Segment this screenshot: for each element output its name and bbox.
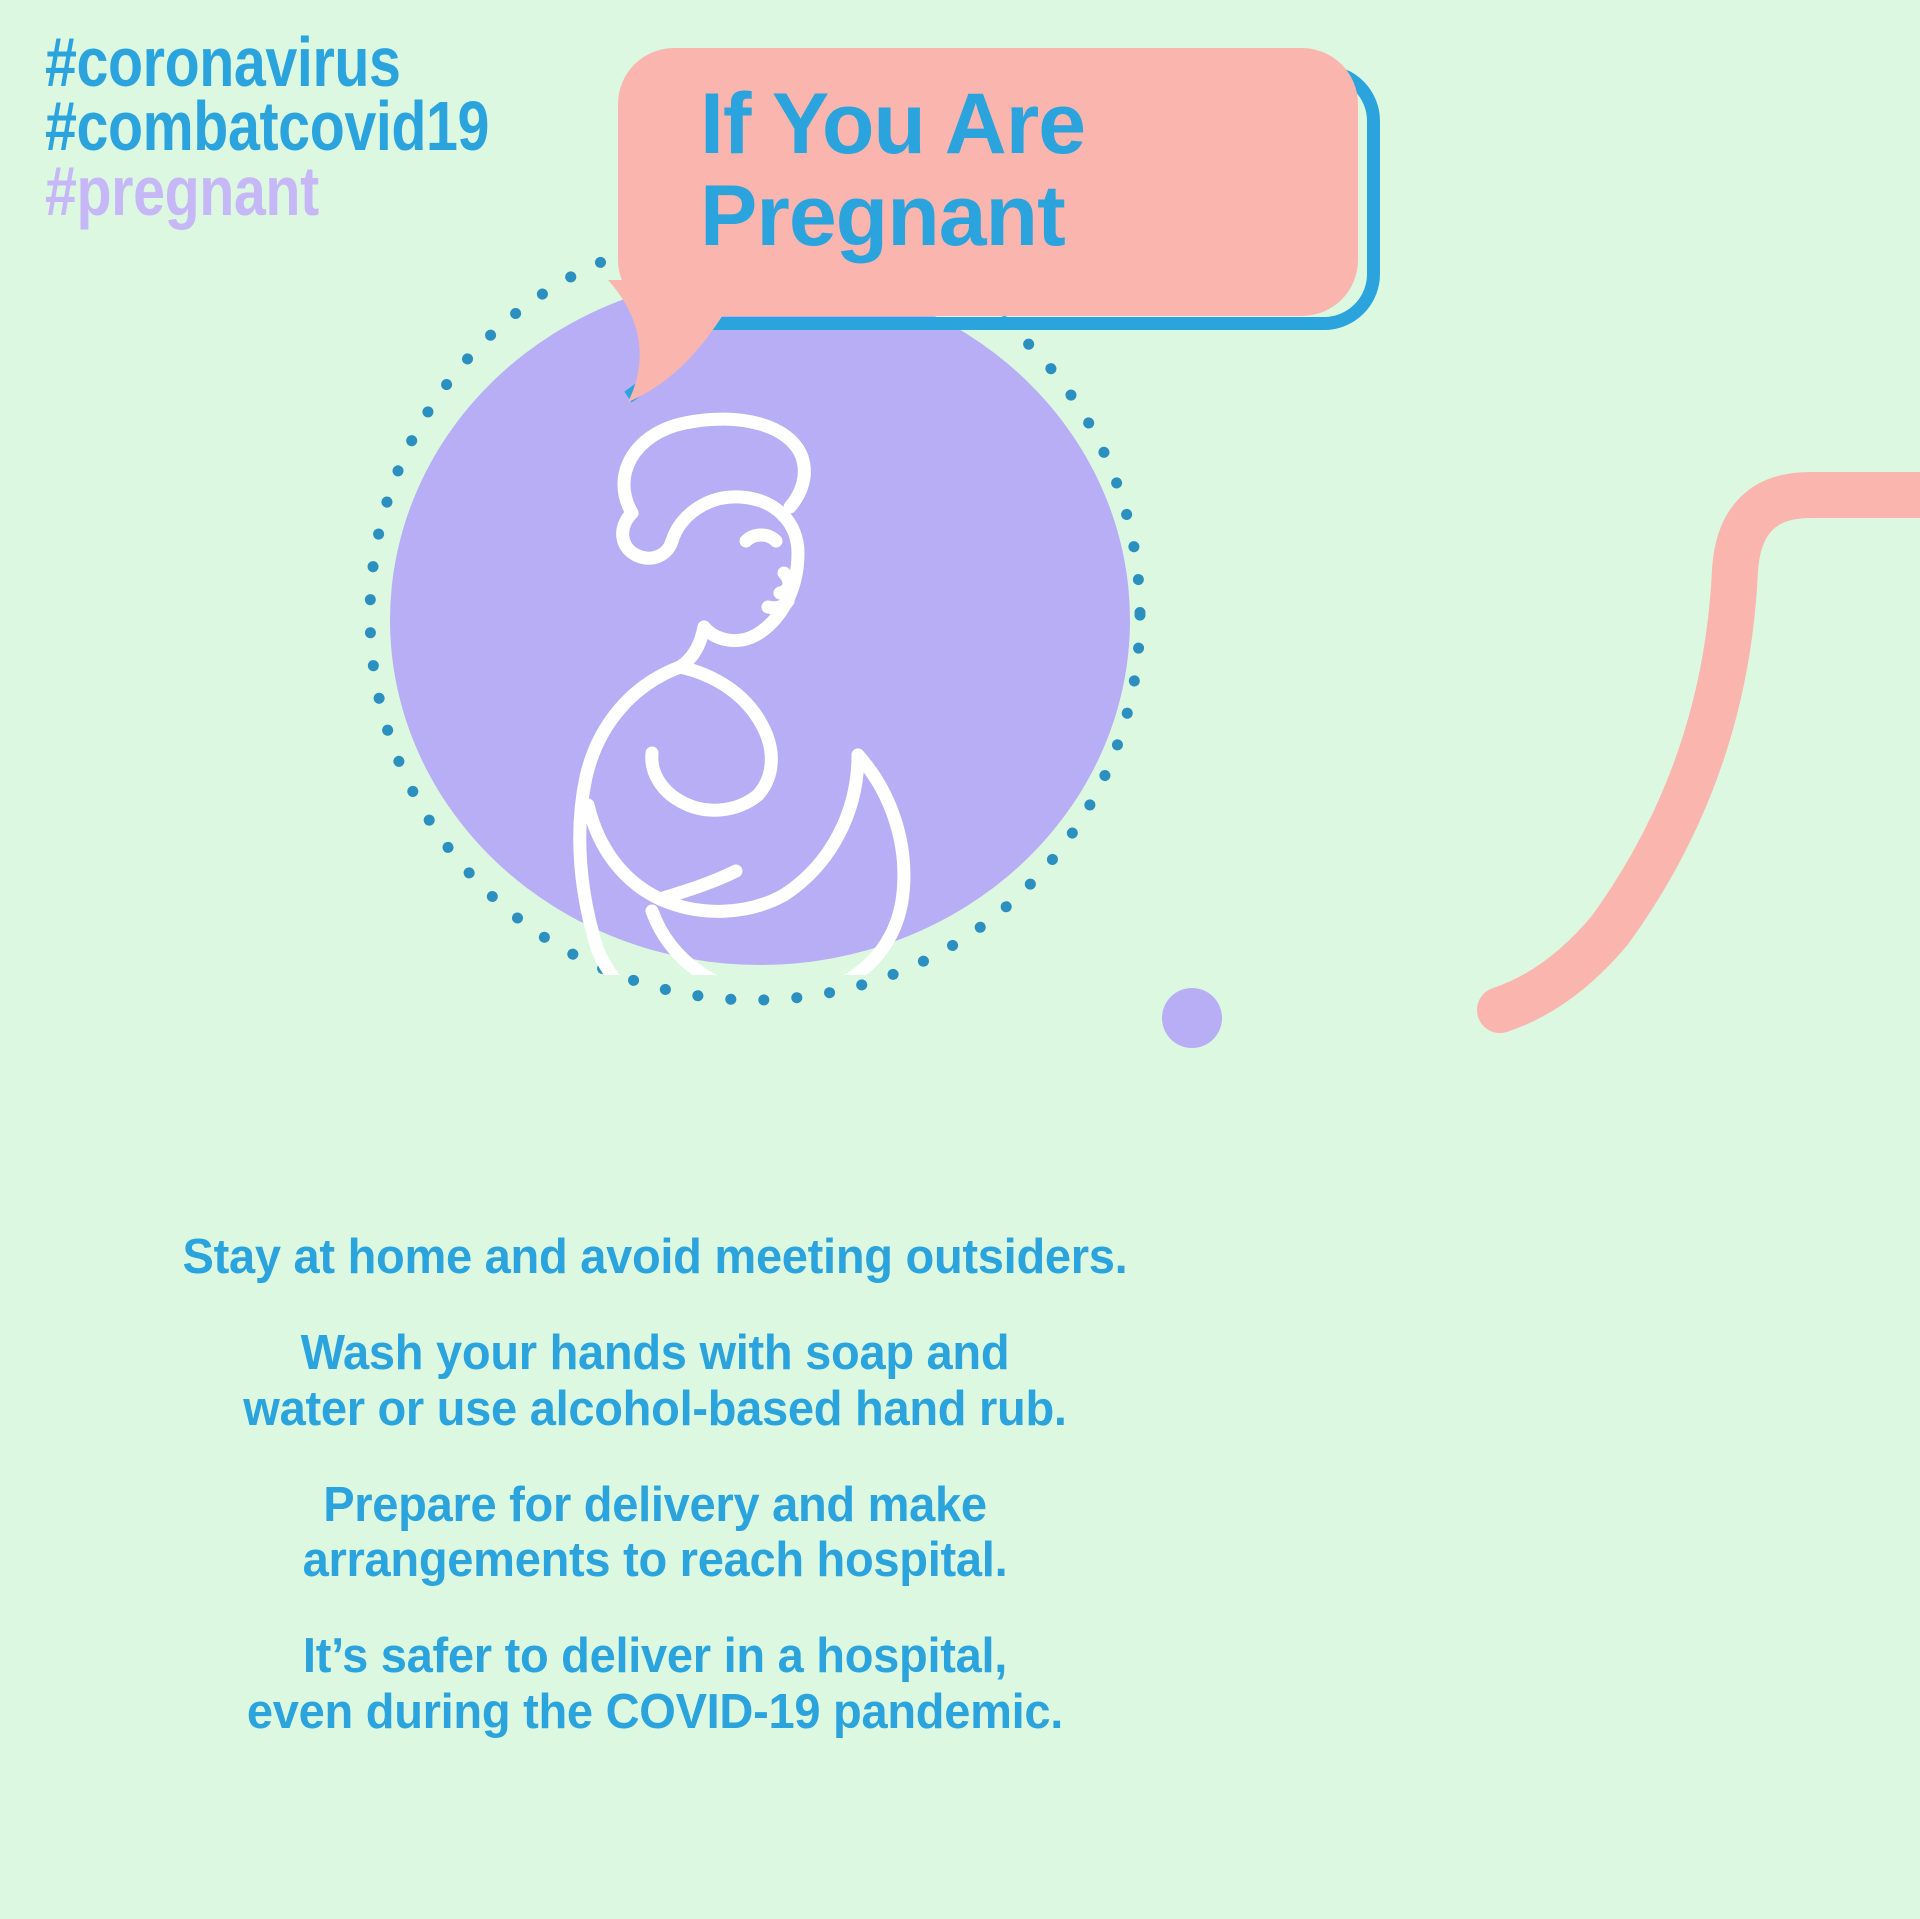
hashtag-pregnant: #pregnant — [45, 159, 489, 223]
pregnant-woman-line-art — [540, 395, 980, 975]
tip-wash-hands: Wash your hands with soap and water or u… — [170, 1326, 1140, 1438]
tip-stay-at-home: Stay at home and avoid meeting outsiders… — [170, 1230, 1140, 1286]
tips-list: Stay at home and avoid meeting outsiders… — [150, 1230, 1160, 1741]
pink-arc-decoration — [1130, 440, 1920, 1080]
tip-prepare-delivery: Prepare for delivery and make arrangemen… — [170, 1478, 1140, 1590]
hashtag-coronavirus: #coronavirus — [45, 30, 489, 94]
hashtag-group: #coronavirus #combatcovid19 #pregnant — [45, 30, 587, 223]
illustration-wrap — [390, 275, 1130, 965]
hashtag-combatcovid19: #combatcovid19 — [45, 94, 489, 158]
speech-bubble-title: If You Are Pregnant — [700, 78, 1340, 262]
purple-dot — [1162, 988, 1222, 1048]
speech-bubble-tail — [608, 280, 728, 405]
pink-arc-path — [1500, 495, 1920, 1010]
tip-deliver-hospital: It’s safer to deliver in a hospital, eve… — [170, 1629, 1140, 1741]
poster-canvas: #coronavirus #combatcovid19 #pregnant — [0, 0, 1920, 1919]
